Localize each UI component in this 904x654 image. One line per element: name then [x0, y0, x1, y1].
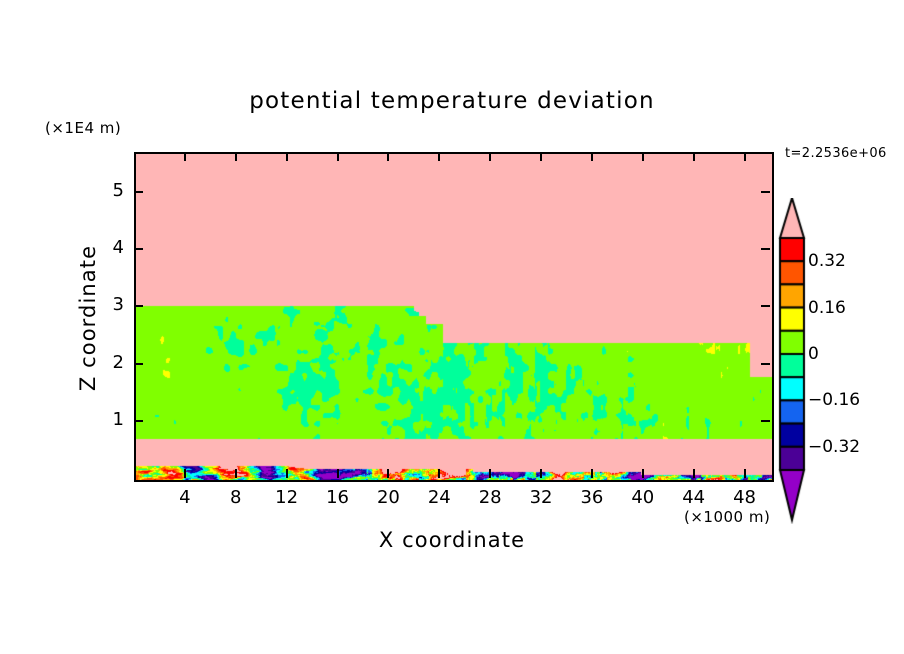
- x-tick-mark: [235, 469, 237, 478]
- x-tick-mark-top: [387, 152, 389, 161]
- y-tick-mark: [134, 363, 143, 365]
- x-tick-mark-top: [591, 152, 593, 161]
- figure-root: potential temperature deviation (×1E4 m)…: [0, 0, 904, 654]
- y-tick-mark: [134, 191, 143, 193]
- x-tick-label: 24: [415, 487, 463, 508]
- colorbar-tick-label: 0: [808, 344, 819, 364]
- x-tick-label: 48: [721, 487, 769, 508]
- x-tick-label: 36: [568, 487, 616, 508]
- x-tick-label: 20: [364, 487, 412, 508]
- colorbar-tick-label: 0.32: [808, 251, 846, 271]
- plot-area: [134, 152, 774, 482]
- y-tick-mark-right: [761, 420, 770, 422]
- time-annotation: t=2.2536e+06: [785, 146, 887, 161]
- y-tick-mark: [134, 305, 143, 307]
- x-tick-label: 4: [161, 487, 209, 508]
- x-tick-mark: [337, 469, 339, 478]
- x-tick-mark-top: [540, 152, 542, 161]
- x-tick-mark-top: [642, 152, 644, 161]
- x-tick-mark-top: [286, 152, 288, 161]
- y-tick-mark-right: [761, 191, 770, 193]
- x-tick-label: 32: [517, 487, 565, 508]
- x-axis-unit-label: (×1000 m): [684, 508, 770, 526]
- x-tick-mark-top: [235, 152, 237, 161]
- y-tick-mark: [134, 248, 143, 250]
- y-tick-mark-right: [761, 248, 770, 250]
- y-axis-title: Z coordinate: [76, 193, 100, 443]
- contour-field-canvas: [136, 154, 772, 480]
- x-tick-mark: [642, 469, 644, 478]
- x-tick-mark-top: [489, 152, 491, 161]
- x-tick-label: 28: [466, 487, 514, 508]
- x-tick-label: 44: [670, 487, 718, 508]
- x-tick-mark: [387, 469, 389, 478]
- x-tick-mark: [286, 469, 288, 478]
- x-tick-label: 16: [314, 487, 362, 508]
- x-tick-mark-top: [744, 152, 746, 161]
- x-tick-mark-top: [693, 152, 695, 161]
- x-tick-label: 40: [619, 487, 667, 508]
- x-tick-mark: [540, 469, 542, 478]
- colorbar-tick-label: −0.32: [808, 437, 860, 457]
- x-tick-mark: [184, 469, 186, 478]
- colorbar-tick-label: −0.16: [808, 390, 860, 410]
- y-axis-unit-label: (×1E4 m): [45, 119, 121, 137]
- x-tick-mark: [591, 469, 593, 478]
- x-tick-label: 12: [263, 487, 311, 508]
- x-tick-mark: [438, 469, 440, 478]
- colorbar: 0.320.160−0.16−0.32: [778, 198, 818, 524]
- x-tick-mark: [693, 469, 695, 478]
- x-tick-mark-top: [438, 152, 440, 161]
- y-tick-mark-right: [761, 305, 770, 307]
- x-tick-mark-top: [184, 152, 186, 161]
- x-tick-mark: [744, 469, 746, 478]
- x-tick-label: 8: [212, 487, 260, 508]
- page-title: potential temperature deviation: [0, 88, 904, 114]
- x-tick-mark-top: [337, 152, 339, 161]
- y-tick-mark-right: [761, 363, 770, 365]
- colorbar-tick-label: 0.16: [808, 298, 846, 318]
- x-axis-title: X coordinate: [134, 528, 770, 552]
- y-tick-mark: [134, 420, 143, 422]
- x-tick-mark: [489, 469, 491, 478]
